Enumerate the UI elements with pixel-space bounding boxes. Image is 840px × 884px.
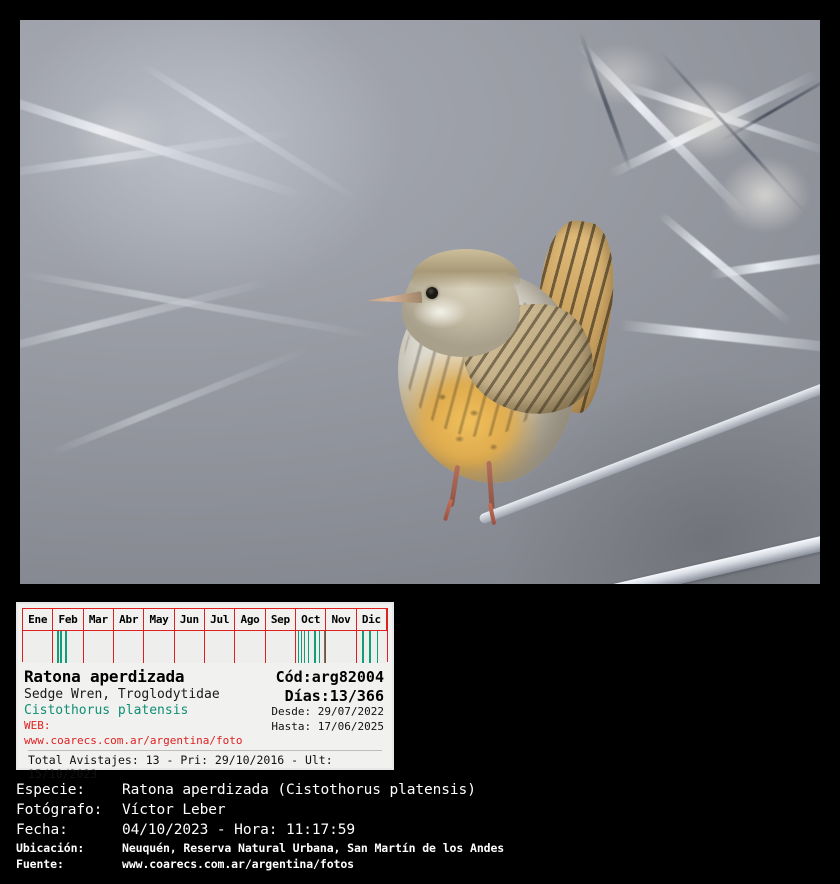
calendar-month-header-jun: Jun — [175, 609, 205, 631]
metadata-value: 04/10/2023 - Hora: 11:17:59 — [122, 820, 355, 840]
seedhead-fuzz — [700, 140, 820, 250]
species-date-to: Hasta: 17/06/2025 — [248, 720, 384, 735]
metadata-value[interactable]: www.coarecs.com.ar/argentina/fotos — [122, 856, 354, 872]
metadata-value: Neuquén, Reserva Natural Urbana, San Mar… — [122, 840, 504, 856]
sighting-tick — [57, 631, 59, 663]
metadata-label: Ubicación: — [16, 840, 122, 856]
calendar-month-header-may: May — [144, 609, 174, 631]
calendar-month-header-jul: Jul — [205, 609, 235, 631]
calendar-month-header-abr: Abr — [114, 609, 144, 631]
metadata-row: Ubicación:Neuquén, Reserva Natural Urban… — [16, 840, 826, 856]
bird-crown — [412, 249, 520, 289]
species-days-count: Días:13/366 — [248, 687, 384, 705]
calendar-month-cell-abr — [114, 631, 144, 663]
calendar-month-cell-nov — [326, 631, 356, 663]
web-url-link[interactable]: www.coarecs.com.ar/argentina/foto — [24, 734, 243, 747]
species-web-line: WEB: www.coarecs.com.ar/argentina/foto — [24, 719, 248, 748]
species-info-card: EneFebMarAbrMayJunJulAgoSepOctNovDic Rat… — [16, 602, 394, 770]
sighting-tick — [369, 631, 371, 663]
species-english-family: Sedge Wren, Troglodytidae — [24, 687, 248, 703]
metadata-row: Fotógrafo:Víctor Leber — [16, 800, 826, 820]
species-info-columns: Ratona aperdizada Sedge Wren, Troglodyti… — [24, 668, 386, 748]
calendar-month-header-mar: Mar — [84, 609, 114, 631]
calendar-month-header-nov: Nov — [326, 609, 356, 631]
calendar-month-header-dic: Dic — [357, 609, 387, 631]
sighting-tick — [298, 631, 300, 663]
sighting-tick — [314, 631, 316, 663]
calendar-month-header-oct: Oct — [296, 609, 326, 631]
calendar-month-header-ago: Ago — [235, 609, 265, 631]
sighting-tick — [304, 631, 306, 663]
calendar-grid: EneFebMarAbrMayJunJulAgoSepOctNovDic — [22, 608, 388, 662]
metadata-value: Ratona aperdizada (Cistothorus platensis… — [122, 780, 476, 800]
calendar-month-cell-may — [144, 631, 174, 663]
sighting-tick — [65, 631, 67, 663]
metadata-row: Especie:Ratona aperdizada (Cistothorus p… — [16, 780, 826, 800]
species-total-sightings: Total Avistajes: 13 - Pri: 29/10/2016 - … — [28, 750, 382, 781]
sighting-tick — [324, 631, 326, 663]
metadata-row: Fuente:www.coarecs.com.ar/argentina/foto… — [16, 856, 826, 872]
sighting-tick — [377, 631, 379, 663]
species-common-name: Ratona aperdizada — [24, 668, 248, 687]
sighting-tick — [319, 631, 321, 663]
bird-photo — [20, 20, 820, 584]
seedhead-fuzz — [560, 30, 680, 120]
species-info-body: Ratona aperdizada Sedge Wren, Troglodyti… — [18, 666, 392, 781]
seedhead-fuzz — [50, 80, 190, 190]
species-code: Cód:arg82004 — [248, 669, 384, 687]
metadata-label: Especie: — [16, 780, 122, 800]
metadata-label: Fotógrafo: — [16, 800, 122, 820]
calendar-month-cell-feb — [53, 631, 83, 663]
calendar-month-cell-ago — [235, 631, 265, 663]
web-label: WEB: — [24, 719, 51, 732]
calendar-month-cell-oct — [296, 631, 326, 663]
species-scientific-name: Cistothorus platensis — [24, 703, 248, 719]
bird-eye — [426, 287, 438, 299]
metadata-label: Fuente: — [16, 856, 122, 872]
metadata-value: Víctor Leber — [122, 800, 226, 820]
calendar-month-cell-sep — [266, 631, 296, 663]
species-left-column: Ratona aperdizada Sedge Wren, Troglodyti… — [24, 668, 248, 748]
calendar-month-cell-ene — [23, 631, 53, 663]
photo-metadata: Especie:Ratona aperdizada (Cistothorus p… — [16, 780, 826, 872]
sighting-tick — [60, 631, 62, 663]
species-date-from: Desde: 29/07/2022 — [248, 705, 384, 720]
calendar-month-header-feb: Feb — [53, 609, 83, 631]
calendar-month-cell-jun — [175, 631, 205, 663]
calendar-month-header-sep: Sep — [266, 609, 296, 631]
metadata-label: Fecha: — [16, 820, 122, 840]
calendar-month-cell-dic — [357, 631, 387, 663]
sighting-tick — [362, 631, 364, 663]
species-right-column: Cód:arg82004 Días:13/366 Desde: 29/07/20… — [248, 669, 386, 734]
bird-subject — [360, 215, 630, 515]
sighting-tick — [308, 631, 310, 663]
calendar-month-header-ene: Ene — [23, 609, 53, 631]
calendar-month-cell-mar — [84, 631, 114, 663]
sightings-calendar: EneFebMarAbrMayJunJulAgoSepOctNovDic — [18, 604, 392, 666]
sighting-tick — [301, 631, 303, 663]
calendar-month-cell-jul — [205, 631, 235, 663]
page-root: EneFebMarAbrMayJunJulAgoSepOctNovDic Rat… — [0, 0, 840, 884]
metadata-row: Fecha:04/10/2023 - Hora: 11:17:59 — [16, 820, 826, 840]
